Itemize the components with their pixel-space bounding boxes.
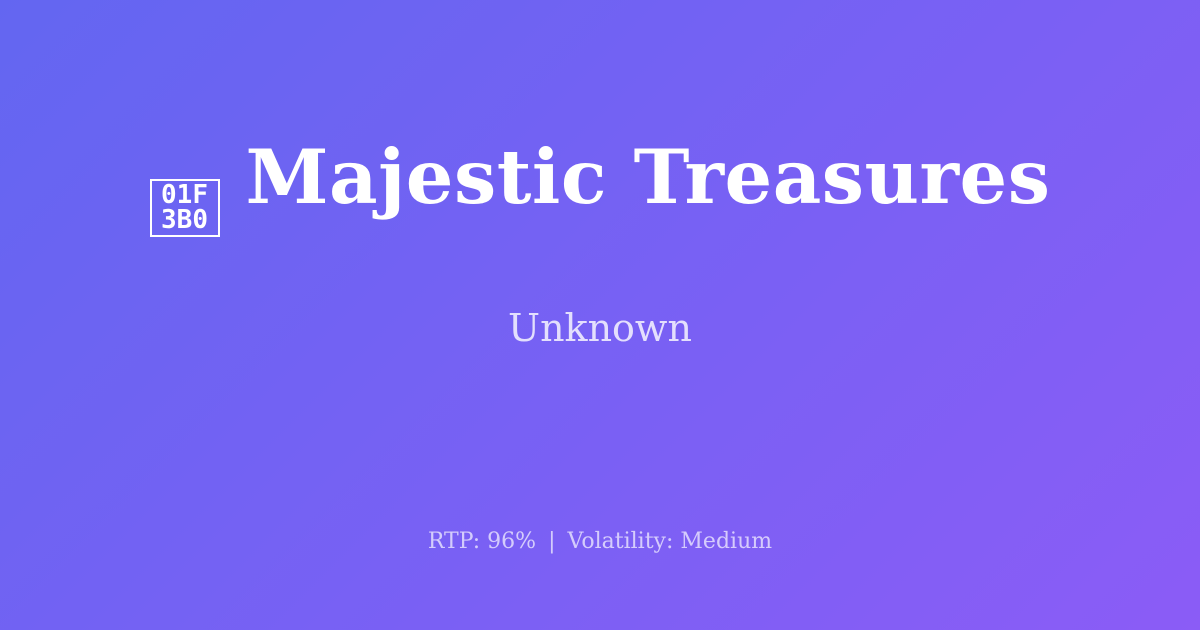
rtp-value: 96% (487, 529, 536, 554)
og-card: 01F 3B0 Majestic Treasures Unknown RTP: … (0, 0, 1200, 630)
provider-subtitle: Unknown (508, 309, 692, 347)
page-title: Majestic Treasures (246, 140, 1051, 215)
rtp-label: RTP: (428, 529, 480, 554)
meta-footer: RTP: 96% | Volatility: Medium (0, 531, 1200, 553)
volatility-value: Medium (680, 529, 772, 554)
volatility-label: Volatility: (568, 529, 674, 554)
slot-machine-icon: 01F 3B0 (150, 179, 220, 237)
tofu-codepoint-bottom: 3B0 (161, 208, 208, 233)
footer-separator: | (543, 529, 560, 554)
hero-block: 01F 3B0 Majestic Treasures Unknown (0, 0, 1200, 487)
title-row: 01F 3B0 Majestic Treasures (150, 140, 1051, 237)
